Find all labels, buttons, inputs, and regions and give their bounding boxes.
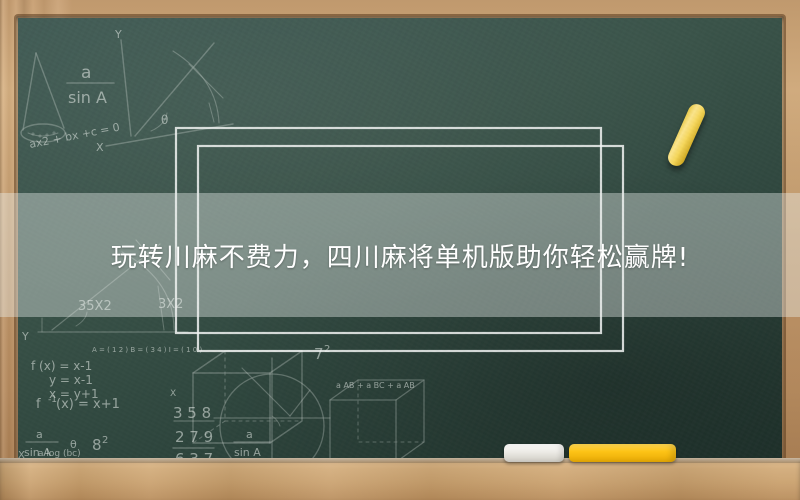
page-title: 玩转川麻不费力，四川麻将单机版助你轻松赢牌! — [0, 193, 800, 317]
ledge-lip — [0, 458, 800, 463]
chalk-ledge — [0, 458, 800, 500]
yellow-chalk-on-ledge — [569, 444, 676, 462]
chalkboard-poster: a sin A Y X θ ax2 + bx +c = 0 f (x) = x-… — [0, 0, 800, 500]
white-chalk-on-ledge — [504, 444, 564, 462]
